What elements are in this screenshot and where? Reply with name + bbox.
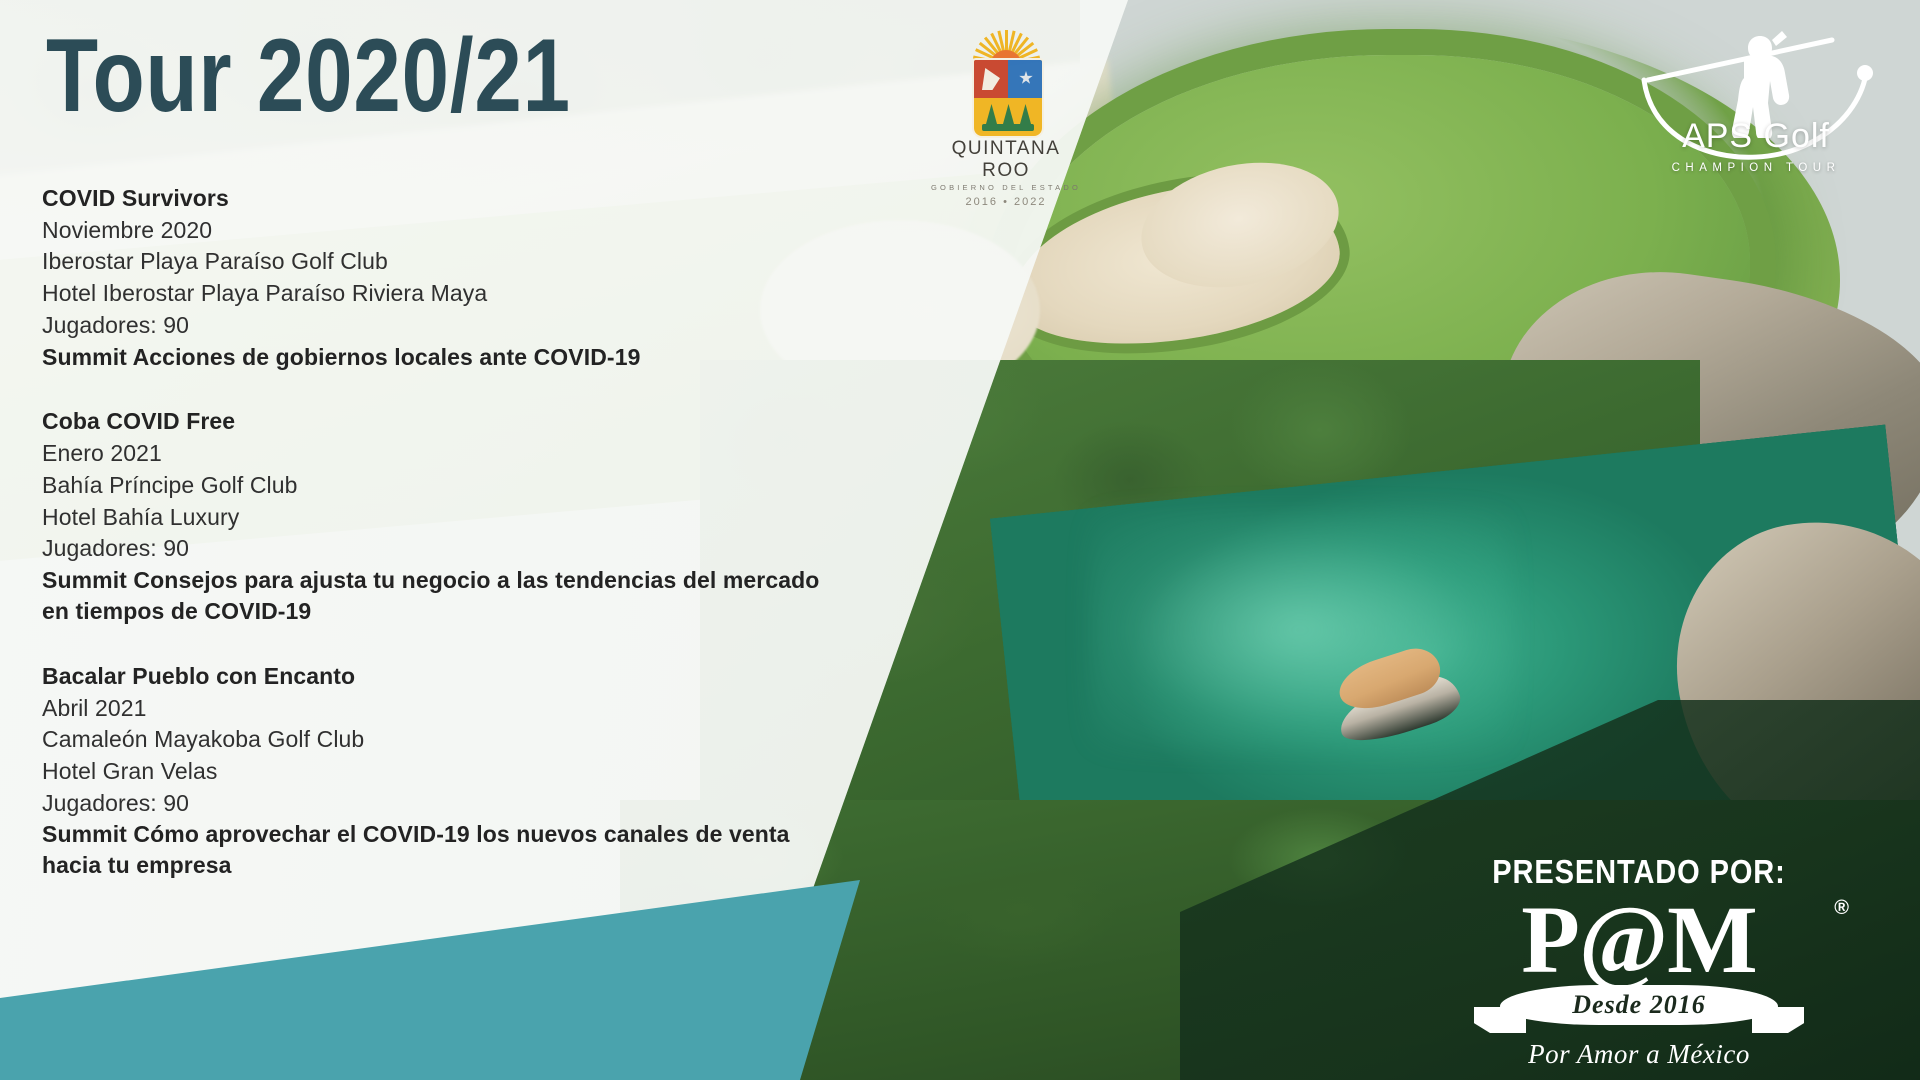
tree-icon — [986, 104, 997, 124]
pam-wordmark: P@M ® — [1424, 893, 1854, 987]
since-ribbon: Desde 2016 — [1474, 981, 1804, 1037]
quintana-roo-name: QUINTANA ROO — [926, 138, 1086, 182]
event-hotel: Hotel Iberostar Playa Paraíso Riviera Ma… — [42, 278, 822, 310]
aps-golf-logo: APS Golf CHAMPION TOUR — [1626, 10, 1886, 190]
event-summit: Summit Acciones de gobiernos locales ant… — [42, 342, 822, 373]
tour-poster: Tour 2020/21 COVID Survivors Noviembre 2… — [0, 0, 1920, 1080]
sponsor-logo: PRESENTADO POR: P@M ® Desde 2016 Por Amo… — [1424, 853, 1854, 1070]
event-date: Noviembre 2020 — [42, 215, 822, 247]
event-date: Abril 2021 — [42, 693, 822, 725]
event-club: Iberostar Playa Paraíso Golf Club — [42, 246, 822, 278]
quintana-roo-subtitle: GOBIERNO DEL ESTADO — [926, 183, 1086, 192]
event-name: COVID Survivors — [42, 183, 822, 215]
registered-trademark-icon: ® — [1834, 899, 1848, 919]
quintana-roo-coat-of-arms-icon — [972, 58, 1044, 138]
event-players: Jugadores: 90 — [42, 788, 822, 820]
event-block: COVID Survivors Noviembre 2020 Iberostar… — [42, 183, 822, 372]
event-hotel: Hotel Gran Velas — [42, 756, 822, 788]
events-list: COVID Survivors Noviembre 2020 Iberostar… — [42, 183, 822, 881]
event-name: Bacalar Pueblo con Encanto — [42, 661, 822, 693]
pam-brand-text: P@M — [1521, 886, 1757, 993]
shield-base-bar — [982, 124, 1034, 131]
event-summit: Summit Cómo aprovechar el COVID-19 los n… — [42, 819, 822, 881]
tree-icon — [1020, 104, 1031, 124]
event-players: Jugadores: 90 — [42, 310, 822, 342]
event-club: Camaleón Mayakoba Golf Club — [42, 724, 822, 756]
page-title: Tour 2020/21 — [46, 22, 571, 131]
tree-icon — [1003, 104, 1014, 124]
aps-golf-name: APS Golf — [1626, 117, 1886, 156]
event-name: Coba COVID Free — [42, 406, 822, 438]
event-summit: Summit Consejos para ajusta tu negocio a… — [42, 565, 822, 627]
event-date: Enero 2021 — [42, 438, 822, 470]
quintana-roo-years: 2016 • 2022 — [926, 196, 1086, 208]
since-text: Desde 2016 — [1474, 990, 1804, 1020]
event-block: Coba COVID Free Enero 2021 Bahía Príncip… — [42, 406, 822, 626]
quintana-roo-logo: QUINTANA ROO GOBIERNO DEL ESTADO 2016 • … — [926, 26, 1086, 171]
event-hotel: Hotel Bahía Luxury — [42, 502, 822, 534]
sponsor-tagline: Por Amor a México — [1424, 1039, 1854, 1070]
aps-golf-subtitle: CHAMPION TOUR — [1626, 162, 1886, 174]
event-players: Jugadores: 90 — [42, 533, 822, 565]
event-club: Bahía Príncipe Golf Club — [42, 470, 822, 502]
event-block: Bacalar Pueblo con Encanto Abril 2021 Ca… — [42, 661, 822, 881]
